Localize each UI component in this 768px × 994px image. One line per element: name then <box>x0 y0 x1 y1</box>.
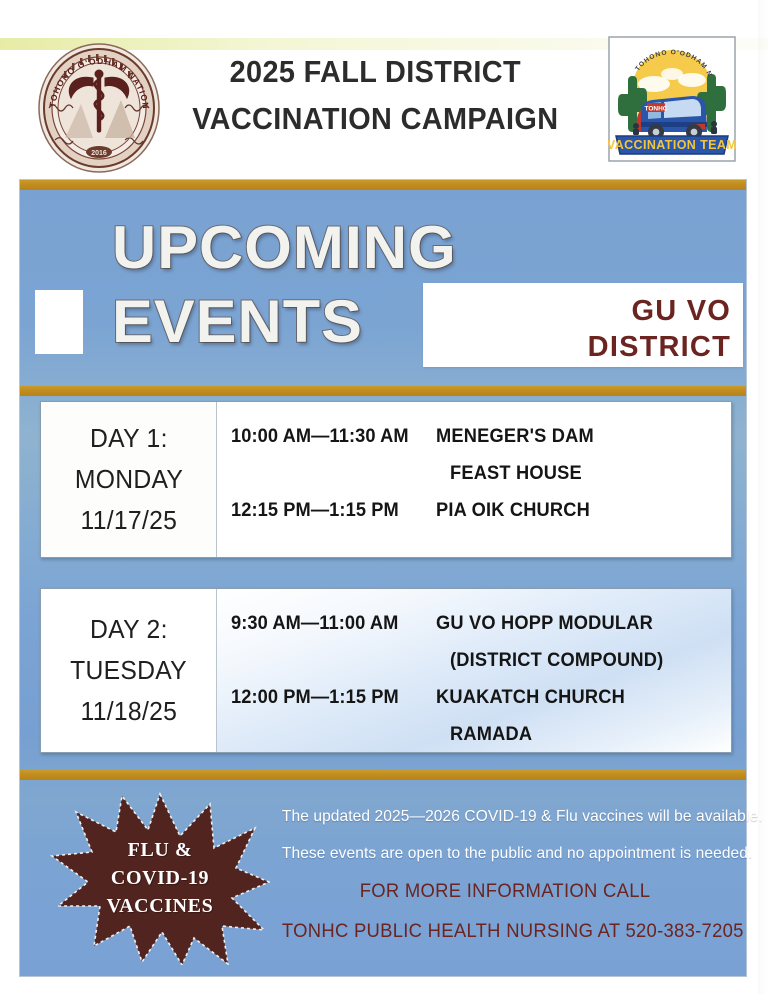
district-line-2: DISTRICT <box>588 333 731 362</box>
day-2-entry-2-time: 12:00 PM—1:15 PM <box>231 679 428 716</box>
svg-text:TONHC: TONHC <box>645 106 668 113</box>
footer-call-1: FOR MORE INFORMATION CALL <box>282 872 728 912</box>
district-name-box: GU VO DISTRICT <box>423 283 743 367</box>
day-2-weekday: TUESDAY <box>70 650 187 691</box>
day-1-entry-1: 10:00 AM—11:30 AM MENEGER'S DAM <box>231 418 731 455</box>
flyer-page: 2016 TOHONO O'ODHAM NATION HEALTH CARE <box>0 0 768 994</box>
svg-text:2016: 2016 <box>91 150 107 157</box>
day-1-entry-1-place-cont: FEAST HOUSE <box>450 455 720 492</box>
day-1-entry-1-time: 10:00 AM—11:30 AM <box>231 418 428 455</box>
vaccination-team-logo-icon: TONHC VACCINATION TEAM TOHONO O'ODHAM NA… <box>608 36 736 162</box>
gold-divider-bottom <box>20 770 746 780</box>
day-1-entry-2-place: PIA OIK CHURCH <box>436 492 590 529</box>
day-2-entry-2: 12:00 PM—1:15 PM KUAKATCH CHURCH <box>231 679 731 716</box>
day-1-entry-1-place: MENEGER'S DAM <box>436 418 594 455</box>
district-line-1: GU VO <box>632 297 731 326</box>
footer-note-2: These events are open to the public and … <box>282 835 728 872</box>
footer-text-block: The updated 2025—2026 COVID-19 & Flu vac… <box>275 798 735 952</box>
headline-band: UPCOMING EVENTS GU VO DISTRICT <box>20 190 746 386</box>
day-2-entry-1-place-cont: (DISTRICT COMPOUND) <box>450 642 720 679</box>
footer-call-2: TONHC PUBLIC HEALTH NURSING AT 520-383-7… <box>282 912 728 952</box>
headline-upcoming: UPCOMING <box>112 218 457 278</box>
footer-note-1: The updated 2025—2026 COVID-19 & Flu vac… <box>282 798 728 835</box>
day-1-details-cell: 10:00 AM—11:30 AM MENEGER'S DAM FEAST HO… <box>217 402 731 557</box>
day-2-entry-2-place: KUAKATCH CHURCH <box>436 679 625 716</box>
headline-events: EVENTS <box>112 292 363 352</box>
schedule-day-2-box: DAY 2: TUESDAY 11/18/25 9:30 AM—11:00 AM… <box>40 588 732 753</box>
white-accent-square <box>35 290 83 354</box>
day-2-entry-1-place: GU VO HOPP MODULAR <box>436 605 653 642</box>
gold-divider-top <box>20 180 746 190</box>
day-2-entry-1-time: 9:30 AM—11:00 AM <box>231 605 428 642</box>
title-line-2: VACCINATION CAMPAIGN <box>180 95 571 142</box>
day-1-title: DAY 1: <box>90 418 168 459</box>
schedule-day-1-box: DAY 1: MONDAY 11/17/25 10:00 AM—11:30 AM… <box>40 401 732 558</box>
day-1-date: 11/17/25 <box>80 500 177 541</box>
day-1-entry-2: 12:15 PM—1:15 PM PIA OIK CHURCH <box>231 492 731 529</box>
day-2-title: DAY 2: <box>90 609 168 650</box>
day-1-label-cell: DAY 1: MONDAY 11/17/25 <box>41 402 217 557</box>
day-2-label-cell: DAY 2: TUESDAY 11/18/25 <box>41 589 217 752</box>
flyer-header: 2016 TOHONO O'ODHAM NATION HEALTH CARE <box>0 0 768 178</box>
day-2-details-cell: 9:30 AM—11:00 AM GU VO HOPP MODULAR (DIS… <box>217 589 731 752</box>
page-title: 2025 FALL DISTRICT VACCINATION CAMPAIGN <box>180 48 571 142</box>
day-1-entry-2-time: 12:15 PM—1:15 PM <box>231 492 428 529</box>
svg-text:VACCINATION TEAM: VACCINATION TEAM <box>608 138 736 152</box>
starburst-icon <box>50 790 270 965</box>
day-2-entry-2-place-cont: RAMADA <box>450 716 720 753</box>
day-1-weekday: MONDAY <box>74 459 182 500</box>
main-blue-panel: UPCOMING EVENTS GU VO DISTRICT DAY 1: MO… <box>20 180 746 976</box>
day-2-date: 11/18/25 <box>80 691 177 732</box>
title-line-1: 2025 FALL DISTRICT <box>180 48 571 95</box>
health-care-seal-icon: 2016 TOHONO O'ODHAM NATION HEALTH CARE <box>35 40 163 176</box>
footer-band: FLU & COVID-19 VACCINES The updated 2025… <box>20 780 746 976</box>
day-2-entry-1: 9:30 AM—11:00 AM GU VO HOPP MODULAR <box>231 605 731 642</box>
gold-divider-middle <box>20 386 746 396</box>
